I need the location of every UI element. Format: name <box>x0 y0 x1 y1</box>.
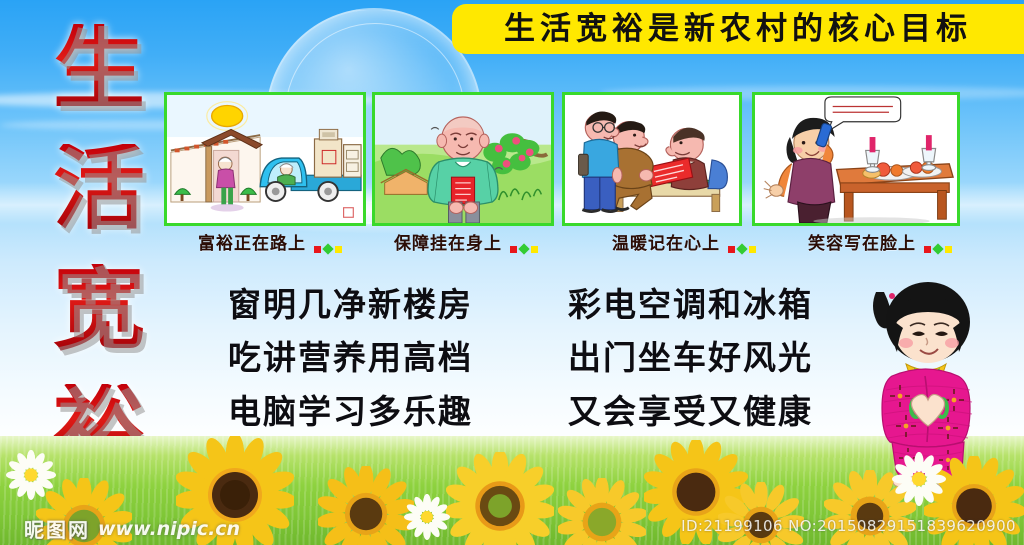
deco-yellow-square <box>335 246 342 253</box>
deco-green-diamond <box>518 243 529 254</box>
photo-row <box>0 92 1024 228</box>
deco-yellow-square <box>945 246 952 253</box>
sunflower <box>718 482 804 545</box>
photo-caption-2-text: 保障挂在身上 <box>392 234 504 254</box>
photo-caption-4: 笑容写在脸上 <box>806 230 952 254</box>
daisy-graphic <box>892 452 946 506</box>
slogan-right-2: 出门坐车好风光 <box>568 331 868 384</box>
slogan-right-1: 彩电空调和冰箱 <box>568 278 868 331</box>
photo-caption-3: 温暖记在心上 <box>610 230 756 254</box>
daisy-flower <box>892 452 946 506</box>
caption-decoration <box>314 245 342 253</box>
site-watermark: 昵图网 www.nipic.cn <box>24 514 240 543</box>
woman-on-phone-at-table-with-fruit-illustration <box>755 95 957 223</box>
elderly-man-with-insurance-card-illustration <box>375 95 551 223</box>
sunflower <box>446 452 554 545</box>
photo-caption-1: 富裕正在路上 <box>196 230 342 254</box>
site-watermark-url: www.nipic.cn <box>98 518 240 540</box>
caption-decoration <box>728 245 756 253</box>
photo-caption-1-text: 富裕正在路上 <box>196 234 308 254</box>
delivery-truck-appliances-at-rural-home-illustration <box>167 95 363 223</box>
deco-green-diamond <box>736 243 747 254</box>
photo-frame-1 <box>164 92 366 226</box>
caption-decoration <box>510 245 538 253</box>
slogan-right-3: 又会享受又健康 <box>568 385 868 438</box>
daisy-graphic <box>404 494 450 540</box>
sunflower <box>318 466 414 545</box>
photo-frame-4 <box>752 92 960 226</box>
deco-yellow-square <box>531 246 538 253</box>
sunflower-graphic <box>718 482 804 545</box>
deco-red-square <box>314 246 321 253</box>
deco-yellow-square <box>749 246 756 253</box>
deco-green-diamond <box>322 243 333 254</box>
headline-banner: 生活宽裕是新农村的核心目标 <box>452 4 1024 54</box>
slogan-block: 窗明几净新楼房 彩电空调和冰箱 吃讲营养用高档 出门坐车好风光 电脑学习多乐趣 … <box>228 278 868 438</box>
daisy-graphic <box>6 450 56 500</box>
site-watermark-cn: 昵图网 <box>24 514 90 543</box>
slogan-left-1: 窗明几净新楼房 <box>228 278 528 331</box>
slogan-left-2: 吃讲营养用高档 <box>228 331 528 384</box>
photo-caption-3-text: 温暖记在心上 <box>610 234 722 254</box>
photo-caption-4-text: 笑容写在脸上 <box>806 234 918 254</box>
photo-frame-3 <box>562 92 742 226</box>
sunflower-graphic <box>318 466 414 545</box>
sunflower-graphic <box>558 478 646 545</box>
officials-visiting-bedside-with-certificate-illustration <box>565 95 739 223</box>
image-id-watermark: ID:21199106 NO:20150829151839620900 <box>681 517 1016 535</box>
deco-red-square <box>510 246 517 253</box>
slogan-left-3: 电脑学习多乐趣 <box>228 385 528 438</box>
deco-red-square <box>924 246 931 253</box>
sunflower <box>558 478 646 545</box>
photo-caption-2: 保障挂在身上 <box>392 230 538 254</box>
deco-green-diamond <box>932 243 943 254</box>
headline-banner-text: 生活宽裕是新农村的核心目标 <box>504 14 972 45</box>
caption-decoration <box>924 245 952 253</box>
daisy-flower <box>404 494 450 540</box>
poster-canvas: 生活宽裕是新农村的核心目标 生 活 宽 裕 <box>0 0 1024 545</box>
deco-red-square <box>728 246 735 253</box>
photo-frame-2 <box>372 92 554 226</box>
daisy-flower <box>6 450 56 500</box>
sunflower-graphic <box>446 452 554 545</box>
vertical-title-char-3: 宽 <box>53 264 145 354</box>
